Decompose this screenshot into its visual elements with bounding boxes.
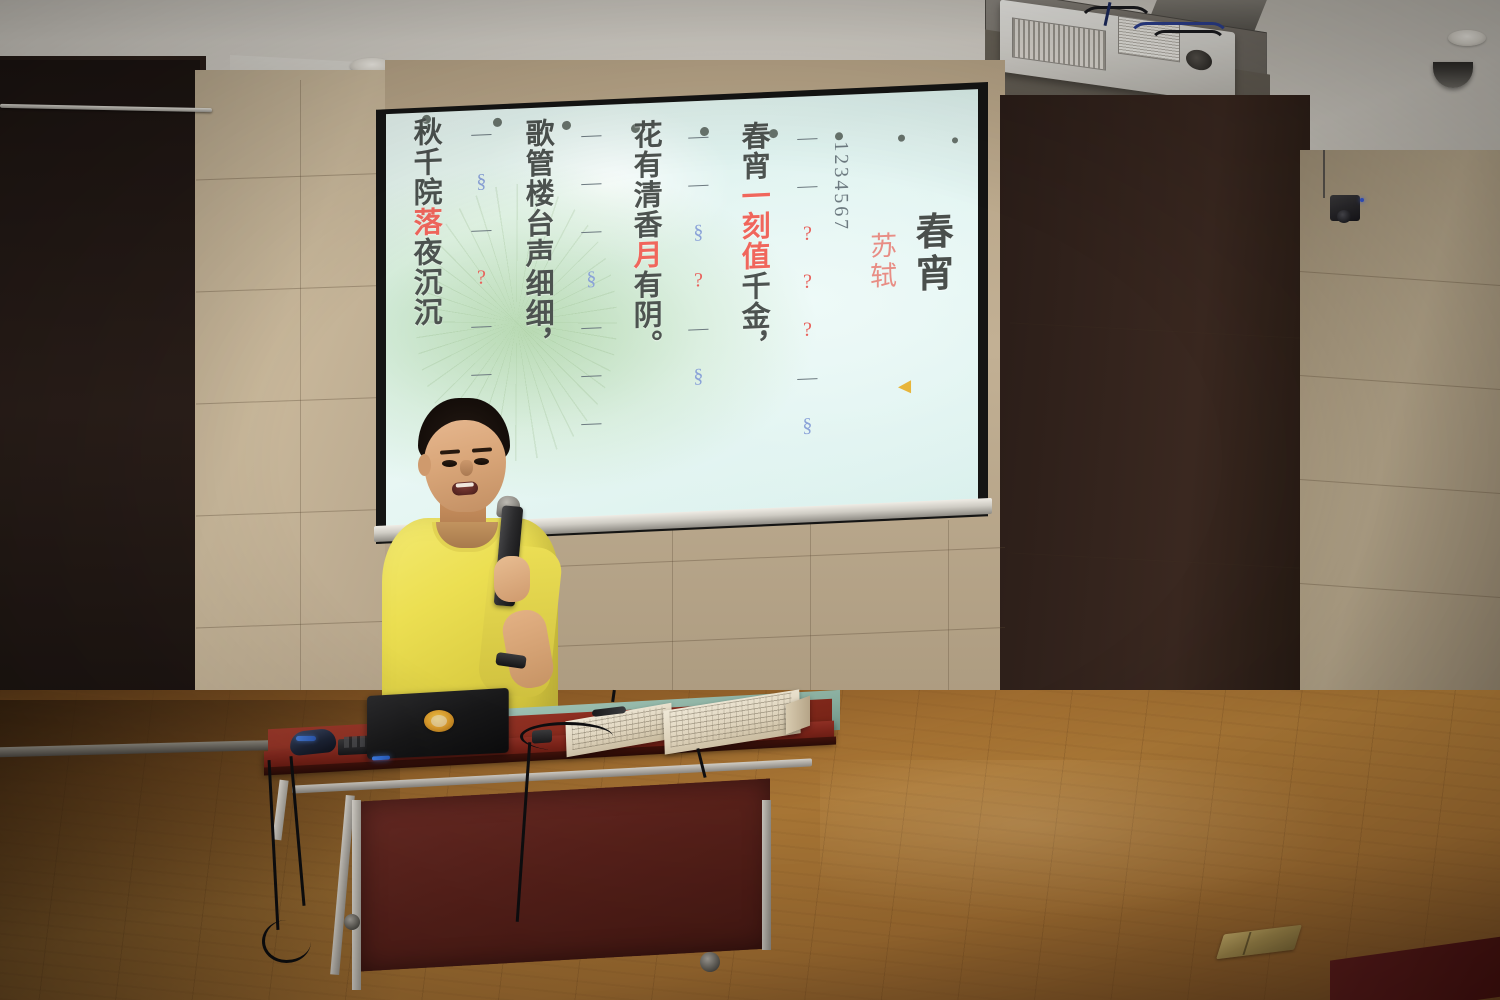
presenter-eyebrow [440, 449, 460, 454]
poem-line-1: 春宵一刻值千金， [738, 120, 768, 361]
desk-modesty-panel [360, 779, 770, 972]
poem-line-3-before: 歌管楼台声细细， [521, 118, 553, 359]
poem-line-4-highlight: 落 [409, 206, 441, 237]
tone-mark: — [580, 219, 602, 244]
downlight-icon [1448, 30, 1486, 46]
tone-mark: ? [470, 266, 492, 291]
poem-line-3: 歌管楼台声细细， [522, 118, 552, 359]
poem-line-1-before: 春宵 [737, 120, 769, 181]
tone-mark: — [470, 362, 492, 387]
tone-mark: — [580, 411, 602, 436]
desk-caster-icon [344, 914, 360, 930]
slide-title: 春宵 [910, 211, 950, 297]
projector-cable [1150, 30, 1226, 58]
floor-highlight [820, 760, 1340, 920]
slide-author: 苏轼 [866, 231, 895, 292]
tone-mark: — [796, 174, 818, 199]
tone-mark: § [796, 414, 818, 439]
desk-leg [352, 800, 361, 990]
tone-mark: § [687, 221, 709, 246]
slide-bullet-icon [562, 121, 571, 130]
tone-mark: ? [796, 318, 818, 343]
tone-mark: — [687, 125, 709, 150]
poem-line-2-highlight: 月 [629, 239, 661, 270]
left-dark-wall-panel-inner [0, 60, 200, 760]
slide-bullet-icon [952, 137, 958, 143]
presenter-ear [418, 454, 431, 476]
presenter [372, 398, 568, 728]
tone-mark: — [470, 314, 492, 339]
tone-mark: — [580, 123, 602, 148]
poem-line-4: 秋千院落夜沉沉 [410, 116, 440, 327]
left-beige-wall [195, 70, 395, 770]
desk-cable [262, 920, 311, 963]
tone-mark: — [470, 122, 492, 147]
presenter-hand [494, 556, 530, 602]
presenter-mouth [452, 481, 479, 496]
poem-line-2-before: 花有清香 [629, 119, 661, 240]
cable-ferrite-bead [532, 729, 552, 743]
presenter-eyebrow [472, 447, 492, 452]
tone-mark: — [580, 315, 602, 340]
wall-device-cable [1323, 150, 1325, 198]
tone-mark: § [687, 365, 709, 390]
wall-camera-led-icon [1360, 198, 1364, 202]
slide-nav-arrow-icon[interactable]: ◀ [898, 376, 911, 397]
tone-mark: ? [796, 222, 818, 247]
tone-marks-3: — — — § — — — [576, 123, 606, 436]
tone-mark: ? [796, 270, 818, 295]
tone-marks-4: — § — ? — — § [466, 122, 496, 435]
tone-mark: — [796, 126, 818, 151]
tone-mark: § [580, 267, 602, 292]
tone-mark: — [687, 173, 709, 198]
presenter-nose [460, 460, 473, 476]
presenter-eye [442, 460, 457, 467]
desk-leg [762, 800, 771, 950]
tone-mark: — [470, 218, 492, 243]
slide-bullet-icon [898, 134, 905, 141]
tone-mark: — [580, 363, 602, 388]
tone-marks-2: — — § ? — § [683, 125, 713, 390]
wall-camera-icon [1330, 195, 1360, 221]
tone-mark: — [687, 317, 709, 342]
tone-mark: ? [687, 269, 709, 294]
poem-line-2-after: 有阴。 [629, 269, 661, 360]
poem-line-2: 花有清香月有阴。 [630, 119, 660, 360]
poem-line-4-before: 秋千院 [409, 116, 441, 207]
wall-panel-seam [300, 80, 301, 750]
tone-mark: § [470, 170, 492, 195]
classroom-scene: 春宵 苏轼 1234567 春宵一刻值千金， — — ? ? ? — § 花有清… [0, 0, 1500, 1000]
slide-bullet-icon [835, 132, 843, 140]
slide-number-column: 1234567 [824, 140, 858, 232]
tone-marks-1: — — ? ? ? — § [792, 126, 822, 439]
tone-mark: — [796, 366, 818, 391]
laptop-logo-icon [424, 710, 454, 732]
presenter-eye [474, 458, 489, 465]
mouse-led-icon [296, 736, 316, 741]
tone-mark: — [580, 171, 602, 196]
slide-bullet-icon [769, 129, 778, 138]
poem-line-4-after: 夜沉沉 [409, 236, 441, 327]
desk-caster-icon [700, 952, 720, 972]
poem-line-1-highlight: 一刻值 [737, 180, 769, 271]
poem-line-1-after: 千金， [737, 270, 769, 361]
